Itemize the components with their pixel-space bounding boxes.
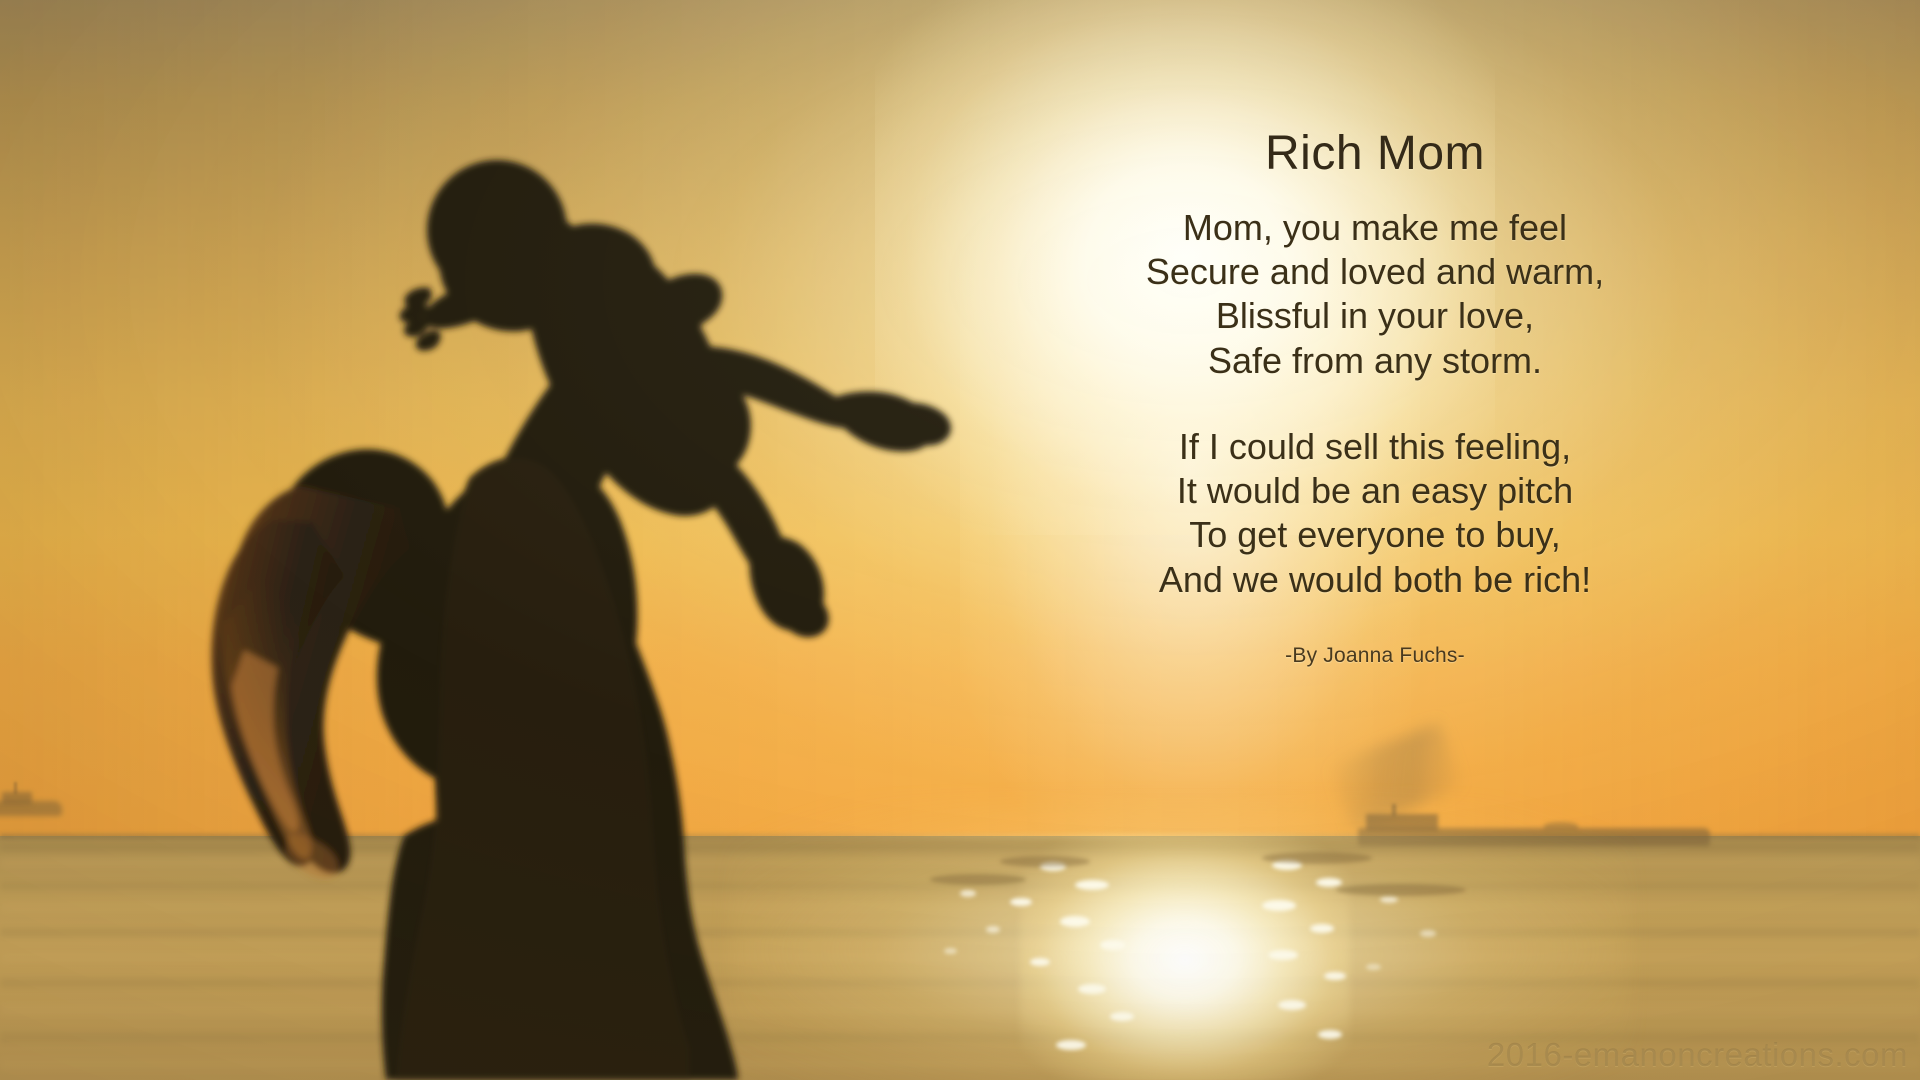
poem-line: And we would both be rich! (1040, 558, 1710, 602)
poem-line: Secure and loved and warm, (1040, 250, 1710, 294)
watermark: 2016-emanoncreations.com (1487, 1036, 1908, 1074)
poem-stanza-1: Mom, you make me feel Secure and loved a… (1040, 206, 1710, 383)
poem-image-canvas: Rich Mom Mom, you make me feel Secure an… (0, 0, 1920, 1080)
poem-line: It would be an easy pitch (1040, 469, 1710, 513)
poem-line: Safe from any storm. (1040, 339, 1710, 383)
poem-credit: -By Joanna Fuchs- (1040, 644, 1710, 668)
poem-title: Rich Mom (1040, 128, 1710, 180)
poem-line: If I could sell this feeling, (1040, 425, 1710, 469)
poem-line: Mom, you make me feel (1040, 206, 1710, 250)
poem-overlay: Rich Mom Mom, you make me feel Secure an… (1040, 128, 1710, 668)
poem-line: To get everyone to buy, (1040, 513, 1710, 557)
poem-stanza-2: If I could sell this feeling, It would b… (1040, 425, 1710, 602)
poem-line: Blissful in your love, (1040, 294, 1710, 338)
horizon-line (0, 834, 1920, 839)
stanza-spacer (1040, 383, 1710, 425)
